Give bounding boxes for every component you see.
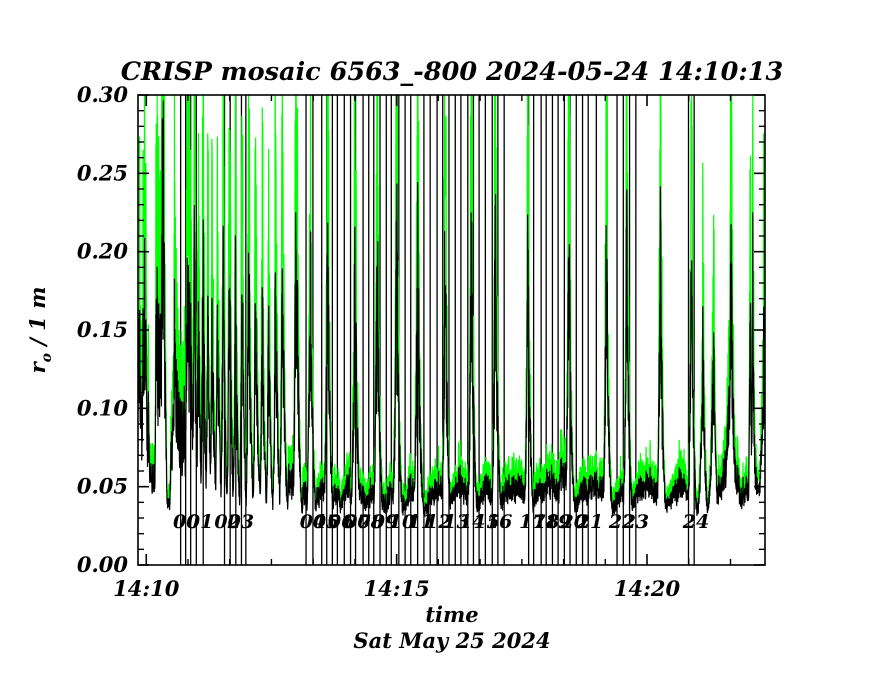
scan-marker-label: 21 [576, 511, 603, 533]
x-axis-label: time [425, 602, 478, 627]
y-tick-label: 0.10 [77, 395, 129, 420]
page-title: CRISP mosaic 6563_-800 2024-05-24 14:10:… [121, 57, 784, 87]
y-tick-label: 0.25 [77, 160, 128, 185]
y-tick-label: 0.00 [77, 552, 129, 577]
y-tick-label: 0.30 [77, 82, 129, 107]
crisp-r0-seeing-plot: CRISP mosaic 6563_-800 2024-05-24 14:10:… [0, 0, 880, 680]
scan-marker-label: 16 [486, 511, 512, 533]
scan-marker-label: 01 [187, 511, 213, 533]
x-tick-label: 14:20 [614, 576, 681, 601]
x-tick-label: 14:15 [364, 576, 430, 601]
y-tick-label: 0.05 [77, 474, 128, 499]
y-tick-label: 0.20 [77, 239, 129, 264]
x-axis-subtitle: Sat May 25 2024 [353, 628, 550, 653]
y-axis-label-sub: o [39, 353, 55, 362]
scan-marker-label: 23 [622, 511, 649, 533]
y-axis-label-rest: / 1 m [25, 287, 50, 353]
scan-marker-label: 03 [228, 511, 254, 533]
scan-marker-labels: 0001020304050607080910111213141516171819… [173, 511, 709, 533]
x-tick-label: 14:10 [113, 576, 180, 601]
scan-marker-label: 24 [682, 511, 709, 533]
y-tick-label: 0.15 [77, 317, 128, 342]
